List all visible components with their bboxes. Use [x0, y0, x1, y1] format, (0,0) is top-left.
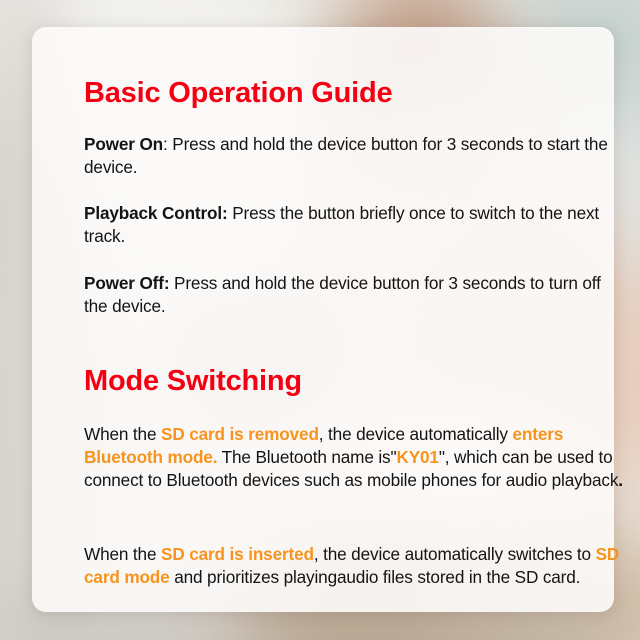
text-fragment-bold-period: . [618, 470, 623, 490]
section-heading-basic-operation-guide: Basic Operation Guide [84, 78, 392, 110]
instruction-card: Basic Operation Guide Power On: Press an… [32, 27, 614, 612]
text-fragment: and prioritizes playingaudio files store… [170, 567, 581, 587]
paragraph-power-off: Power Off: Press and hold the device but… [84, 272, 612, 318]
text-fragment: When the [84, 424, 161, 444]
label-power-off: Power Off: [84, 273, 169, 293]
label-power-on: Power On [84, 134, 163, 154]
text-fragment: , the device automatically switches to [314, 544, 596, 564]
text-fragment: The Bluetooth name is" [217, 447, 396, 467]
paragraph-sd-card-inserted: When the SD card is inserted, the device… [84, 543, 624, 589]
section-heading-mode-switching: Mode Switching [84, 366, 302, 398]
paragraph-power-on: Power On: Press and hold the device butt… [84, 133, 612, 179]
highlight-sd-card-is-removed: SD card is removed [161, 424, 319, 444]
label-playback-control: Playback Control: [84, 203, 228, 223]
paragraph-playback-control: Playback Control: Press the button brief… [84, 202, 624, 248]
text-fragment: , the device automatically [319, 424, 513, 444]
paragraph-sd-card-removed: When the SD card is removed, the device … [84, 423, 632, 492]
highlight-bluetooth-name-ky01: KY01 [396, 447, 438, 467]
text-fragment: When the [84, 544, 161, 564]
highlight-sd-card-is-inserted: SD card is inserted [161, 544, 314, 564]
